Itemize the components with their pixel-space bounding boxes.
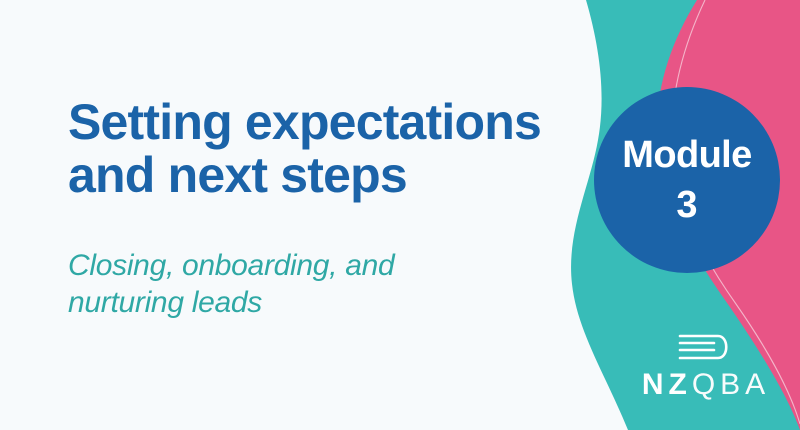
- page-subtitle: Closing, onboarding, and nurturing leads: [68, 248, 548, 321]
- nzqba-logo: NZQBA: [620, 330, 792, 400]
- book-pages-icon: [674, 330, 738, 364]
- module-badge-label: Module: [622, 136, 751, 174]
- module-badge: Module 3: [594, 87, 780, 273]
- text-block: Setting expectations and next steps Clos…: [68, 96, 548, 321]
- logo-word-qba: QBA: [692, 368, 770, 401]
- logo-word-nz: NZ: [642, 368, 692, 401]
- logo-wordmark: NZQBA: [642, 370, 770, 400]
- page-title: Setting expectations and next steps: [68, 96, 548, 202]
- module-badge-number: 3: [676, 186, 697, 224]
- title-slide: Setting expectations and next steps Clos…: [0, 0, 800, 430]
